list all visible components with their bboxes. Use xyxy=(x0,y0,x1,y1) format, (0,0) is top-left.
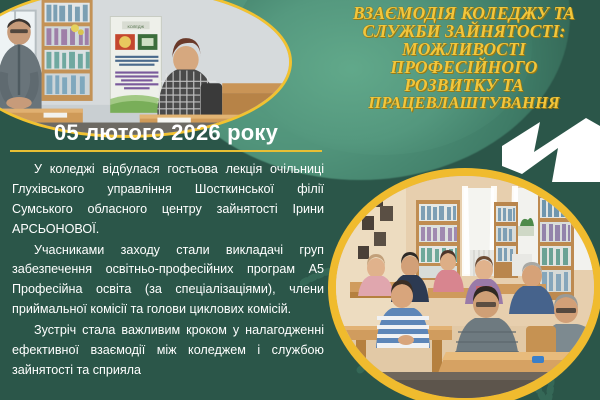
lecture-speaker-photo: КОЛЕДЖ xyxy=(0,0,292,138)
white-zigzag-shape xyxy=(500,112,600,182)
title-line-5: РОЗВИТКУ ТА xyxy=(330,76,598,94)
photo-scene-lecture: КОЛЕДЖ xyxy=(0,0,289,138)
audience-photo xyxy=(336,176,594,398)
event-date: 05 лютого 2026 року xyxy=(0,120,332,146)
title-line-6: ПРАЦЕВЛАШТУВАННЯ xyxy=(330,94,598,111)
body-paragraph-2: Учасниками заходу стали викладачі груп з… xyxy=(12,241,324,321)
title-line-4: ПРОФЕСІЙНОГО xyxy=(330,58,598,76)
poster-canvas: КОЛЕДЖ xyxy=(0,0,600,400)
title-line-2: СЛУЖБИ ЗАЙНЯТОСТІ: xyxy=(330,22,598,40)
poster-title: ВЗАЄМОДІЯ КОЛЕДЖУ ТА СЛУЖБИ ЗАЙНЯТОСТІ: … xyxy=(330,4,598,111)
event-date-block: 05 лютого 2026 року xyxy=(0,120,332,152)
svg-text:КОЛЕДЖ: КОЛЕДЖ xyxy=(128,24,145,29)
title-line-3: МОЖЛИВОСТІ xyxy=(330,40,598,58)
audience-photo-frame xyxy=(332,168,598,398)
body-paragraph-3: Зустріч стала важливим кроком у налагодж… xyxy=(12,321,324,381)
photo-scene-audience xyxy=(336,176,594,398)
gold-horizontal-rule xyxy=(10,150,322,152)
title-line-1: ВЗАЄМОДІЯ КОЛЕДЖУ ТА xyxy=(330,4,598,22)
body-copy: У коледжі відбулася гостьова лекція очіл… xyxy=(12,160,324,382)
body-paragraph-1: У коледжі відбулася гостьова лекція очіл… xyxy=(12,160,324,240)
